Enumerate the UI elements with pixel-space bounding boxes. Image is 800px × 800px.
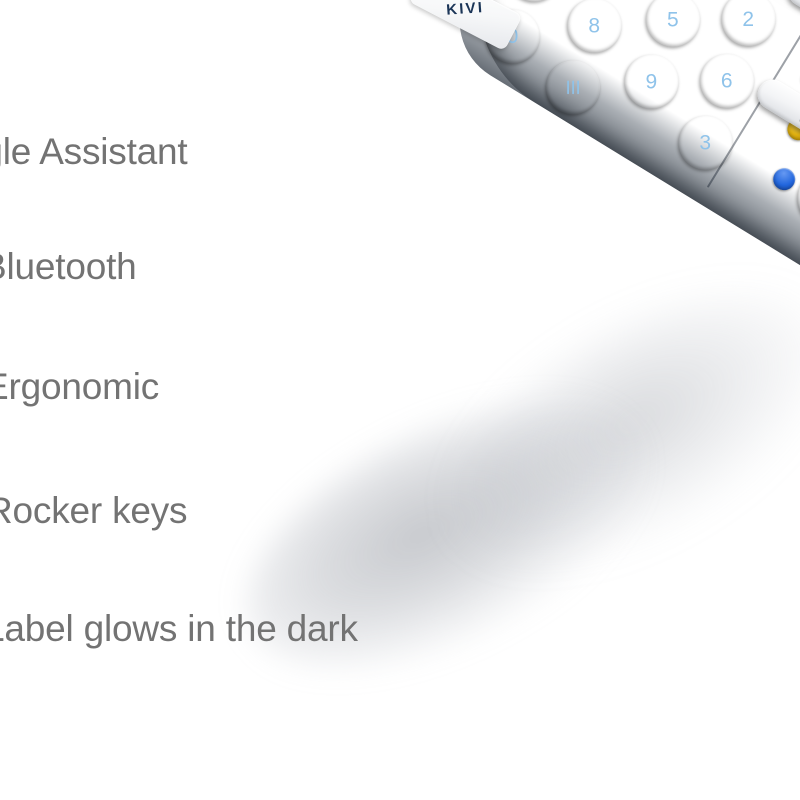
menu-bars-icon [561,77,585,97]
kivi-label-text: KIVI [446,0,485,18]
key-3-label: 3 [700,132,712,153]
feature-ergonomic: Ergonomic [0,366,159,408]
key-5-label: 5 [667,9,679,30]
feature-google-assistant: ogle Assistant [0,131,188,173]
feature-rocker-keys: Rocker keys [0,490,187,532]
key-6-label: 6 [721,70,733,91]
feature-bluetooth: Bluetooth [0,246,137,288]
key-9-label: 9 [646,71,658,92]
kivi-label-tag: KIVI [408,0,522,51]
remote-control: KIVI 0 7 8 [222,0,800,787]
product-photo-scene: KIVI 0 7 8 [0,0,800,800]
key-2-label: 2 [743,8,755,29]
key-8-label: 8 [589,15,601,36]
